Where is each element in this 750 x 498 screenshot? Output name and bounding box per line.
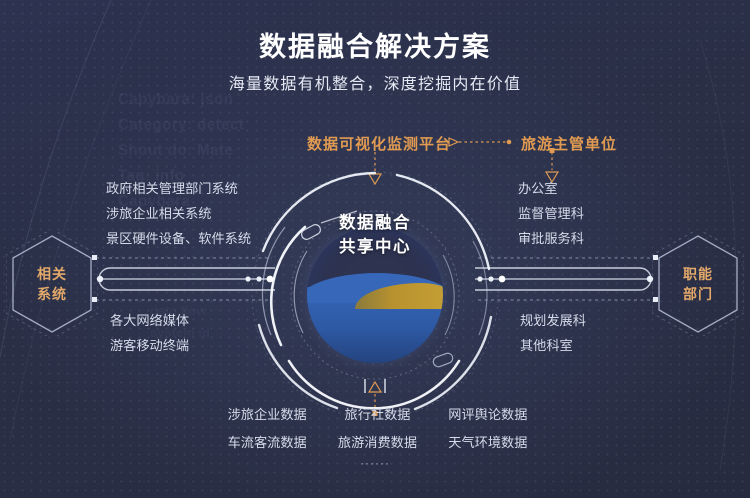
data-chip: 网评舆论数据 [436, 404, 540, 426]
list-item: 办公室 [518, 176, 584, 201]
hexagon-right-label: 职能部门 [652, 264, 744, 304]
list-item: 审批服务科 [518, 226, 584, 251]
list-item: 监督管理科 [518, 201, 584, 226]
data-chip: 涉旅企业数据 [215, 404, 319, 426]
data-chip: 车流客流数据 [215, 432, 319, 454]
list-item: 其他科室 [520, 333, 586, 358]
data-chip: 旅行社数据 [325, 404, 429, 426]
infographic-canvas: Capybara: json Category: detect Shout do… [0, 0, 750, 498]
center-hub-label: 数据融合共享中心 [245, 211, 505, 259]
data-chip: 天气环境数据 [436, 432, 540, 454]
data-chip: 旅游消费数据 [325, 432, 429, 454]
page-subtitle: 海量数据有机整合，深度挖掘内在价值 [0, 70, 750, 94]
list-item: 规划发展科 [520, 308, 586, 333]
page-title: 数据融合解决方案 [0, 25, 750, 64]
bottom-data-grid: 涉旅企业数据 旅行社数据 网评舆论数据 车流客流数据 旅游消费数据 天气环境数据 [215, 404, 540, 454]
label-tourism-authority: 旅游主管单位 [521, 133, 617, 154]
hexagon-functional-departments[interactable]: 职能部门 [652, 232, 744, 336]
list-item: 政府相关管理部门系统 [106, 176, 251, 201]
data-ellipsis: ······ [0, 456, 750, 470]
list-item: 涉旅企业相关系统 [106, 201, 251, 226]
arrow-left-icon [446, 134, 516, 150]
left-bottom-source-list: 各大网络媒体 游客移动终端 [110, 308, 189, 358]
list-item: 各大网络媒体 [110, 308, 189, 333]
right-top-department-list: 办公室 监督管理科 审批服务科 [518, 176, 584, 251]
list-item: 景区硬件设备、软件系统 [106, 226, 251, 251]
list-item: 游客移动终端 [110, 333, 189, 358]
hexagon-left-label: 相关系统 [6, 264, 98, 304]
label-visualization-platform: 数据可视化监测平台 [307, 133, 451, 154]
right-bottom-department-list: 规划发展科 其他科室 [520, 308, 586, 358]
left-top-source-list: 政府相关管理部门系统 涉旅企业相关系统 景区硬件设备、软件系统 [106, 176, 251, 251]
center-hub: 数据融合共享中心 [245, 165, 505, 425]
hexagon-related-systems[interactable]: 相关系统 [6, 232, 98, 336]
